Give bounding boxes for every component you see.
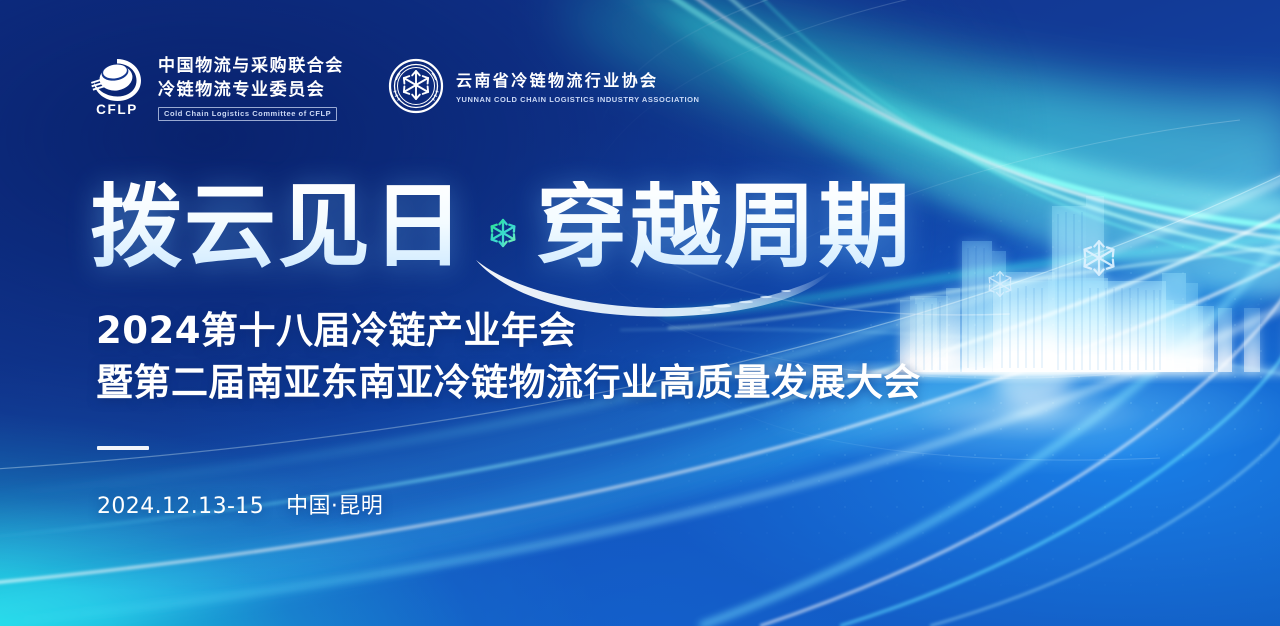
- conference-poster: CFLP 中国物流与采购联合会 冷链物流专业委员会 Cold Chain Log…: [0, 0, 1280, 626]
- event-location: 中国·昆明: [286, 488, 383, 520]
- snowflake-icon: [486, 216, 520, 250]
- headline-part-1: 拨云见日: [90, 181, 466, 273]
- cflp-name-line-2: 冷链物流专业委员会: [158, 80, 344, 101]
- cflp-name-line-1: 中国物流与采购联合会: [158, 56, 344, 77]
- logo-yunnan-association: 云南省冷链物流行业协会 YUNNAN COLD CHAIN LOGISTICS …: [388, 58, 700, 119]
- subtitle-line-1: 2024第十八届冷链产业年会: [96, 300, 576, 354]
- logo-cflp: CFLP 中国物流与采购联合会 冷链物流专业委员会 Cold Chain Log…: [88, 55, 344, 122]
- yunnan-snowflake-seal-icon: [388, 58, 444, 119]
- snowflake-icon: [989, 272, 1011, 297]
- snowflake-icon: [1085, 241, 1114, 275]
- subtitle-line-2: 暨第二届南亚东南亚冷链物流行业高质量发展大会: [96, 352, 921, 406]
- svg-text:CFLP: CFLP: [96, 102, 138, 117]
- event-date: 2024.12.13-15: [97, 494, 264, 519]
- headline: 拨云见日 穿越周期: [90, 168, 912, 286]
- event-meta: 2024.12.13-15 中国·昆明: [97, 488, 383, 520]
- yunnan-english-name: YUNNAN COLD CHAIN LOGISTICS INDUSTRY ASS…: [456, 95, 700, 104]
- divider-rule: [97, 446, 149, 450]
- cflp-globe-logo-icon: CFLP: [88, 55, 146, 122]
- headline-part-2: 穿越周期: [536, 181, 912, 273]
- organizer-logos: CFLP 中国物流与采购联合会 冷链物流专业委员会 Cold Chain Log…: [88, 55, 700, 122]
- cflp-english-name: Cold Chain Logistics Committee of CFLP: [158, 107, 337, 121]
- yunnan-name: 云南省冷链物流行业协会: [456, 73, 700, 91]
